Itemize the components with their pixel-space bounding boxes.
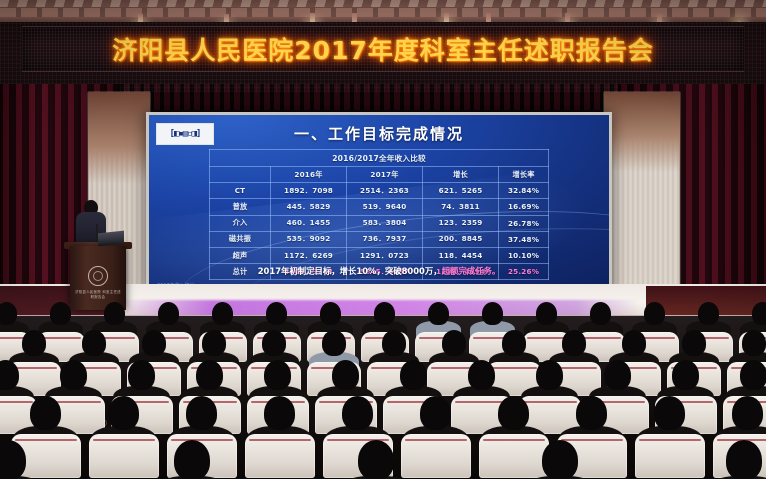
audience-member-head xyxy=(82,330,106,356)
led-banner: 济阳县人民医院2017年度科室主任述职报告会 xyxy=(22,26,744,72)
column-header xyxy=(210,167,271,183)
table-row: CT1892．70982514．2363621．526532.84% xyxy=(210,183,549,199)
row-label: 普放 xyxy=(210,199,271,215)
audience-member-head xyxy=(622,330,646,356)
audience-member-head xyxy=(442,330,466,356)
table-header-row: 2016年2017年增长增长率 xyxy=(210,167,549,183)
row-label: 超声 xyxy=(210,247,271,263)
wall-panel-left-shadow xyxy=(88,92,150,184)
value-growth: 200．8845 xyxy=(423,231,499,247)
value-growth-rate: 37.48% xyxy=(499,231,549,247)
audience-member-head xyxy=(264,396,295,430)
audience-member-head xyxy=(576,396,607,430)
audience-member-head xyxy=(262,330,286,356)
audience-member-head xyxy=(60,360,87,390)
auditorium-seat xyxy=(245,434,315,478)
value-2016: 460．1455 xyxy=(271,215,347,231)
row-label: 磁共振 xyxy=(210,231,271,247)
audience-member-head xyxy=(672,360,699,390)
audience-member-head xyxy=(0,302,17,325)
value-2016: 535．9092 xyxy=(271,231,347,247)
audience-member-head xyxy=(322,330,346,356)
value-growth-rate: 16.69% xyxy=(499,199,549,215)
audience-member-head xyxy=(382,330,406,356)
value-growth: 74．3811 xyxy=(423,199,499,215)
conference-hall-photo: 济阳县人民医院2017年度科室主任述职报告会 [◧▪▤▫◨] 一、工作目标完成情… xyxy=(0,0,766,479)
hospital-seal-icon xyxy=(88,266,108,286)
audience-member-head xyxy=(698,302,719,325)
table-caption-row: 2016/2017全年收入比较 xyxy=(210,150,549,167)
audience-member-head xyxy=(644,302,665,325)
value-2016: 1172．6269 xyxy=(271,247,347,263)
column-header: 2017年 xyxy=(347,167,423,183)
value-2017: 519．9640 xyxy=(347,199,423,215)
audience-member-head xyxy=(428,302,449,325)
table-row: 磁共振535．9092736．7937200．884537.48% xyxy=(210,231,549,247)
audience-member-head xyxy=(358,440,394,479)
audience-member-head xyxy=(108,396,139,430)
table-row: 介入460．1455583．3804123．235926.78% xyxy=(210,215,549,231)
audience-member-head xyxy=(536,360,563,390)
audience-member-head xyxy=(332,360,359,390)
audience-member-head xyxy=(186,396,217,430)
auditorium-seat xyxy=(635,434,705,478)
audience-member-head xyxy=(536,302,557,325)
podium-inscription: 济阳县人民医院 科室主任述职报告会 xyxy=(74,290,122,300)
value-growth-rate: 32.84% xyxy=(499,183,549,199)
audience-member-head xyxy=(482,302,503,325)
projection-screen: [◧▪▤▫◨] 一、工作目标完成情况 2016/2017全年收入比较2016年2… xyxy=(146,112,612,294)
audience-member-head xyxy=(128,360,155,390)
audience-member-head xyxy=(374,302,395,325)
value-growth: 118．4454 xyxy=(423,247,499,263)
audience-member-head xyxy=(30,396,61,430)
slide-footer-highlight: 超额完成任务。 xyxy=(442,266,501,276)
value-2016: 1892．7098 xyxy=(271,183,347,199)
audience-member-head xyxy=(732,396,763,430)
audience-member-head xyxy=(542,440,578,479)
column-header: 增长 xyxy=(423,167,499,183)
audience-member-head xyxy=(22,330,46,356)
audience-member-head xyxy=(654,396,685,430)
audience-member-head xyxy=(174,440,210,479)
audience-member-head xyxy=(604,360,631,390)
value-growth: 621．5265 xyxy=(423,183,499,199)
value-growth-rate: 10.10% xyxy=(499,247,549,263)
row-label: 介入 xyxy=(210,215,271,231)
audience-member-head xyxy=(420,396,451,430)
audience-member-head xyxy=(212,302,233,325)
revenue-table-wrapper: 2016/2017全年收入比较2016年2017年增长增长率CT1892．709… xyxy=(209,149,549,280)
value-growth-rate: 26.78% xyxy=(499,215,549,231)
value-growth: 123．2359 xyxy=(423,215,499,231)
audience-member-head xyxy=(502,330,526,356)
presentation-slide: [◧▪▤▫◨] 一、工作目标完成情况 2016/2017全年收入比较2016年2… xyxy=(149,115,609,291)
audience-member-head xyxy=(742,330,766,356)
column-header: 增长率 xyxy=(499,167,549,183)
audience-member-head xyxy=(104,302,125,325)
slide-title: 一、工作目标完成情况 xyxy=(149,123,609,144)
audience-member-head xyxy=(320,302,341,325)
value-2017: 2514．2363 xyxy=(347,183,423,199)
auditorium-floor: 5-20 5-10 xyxy=(0,316,766,479)
audience-member-head xyxy=(158,302,179,325)
audience-member-head xyxy=(196,360,223,390)
audience-member-head xyxy=(590,302,611,325)
auditorium-seat xyxy=(89,434,159,478)
auditorium-seat xyxy=(479,434,549,478)
ceiling-truss xyxy=(0,8,766,17)
table-row: 普放445．5829519．964074．381116.69% xyxy=(210,199,549,215)
audience-member-head xyxy=(752,302,766,325)
table-row: 超声1172．62691291．0723118．445410.10% xyxy=(210,247,549,263)
banner-title: 济阳县人民医院2017年度科室主任述职报告会 xyxy=(22,27,744,71)
laptop-icon xyxy=(98,231,124,247)
audience-member-head xyxy=(266,302,287,325)
ceiling-truss-upper xyxy=(0,0,766,7)
row-label: CT xyxy=(210,183,271,199)
value-2017: 736．7937 xyxy=(347,231,423,247)
column-header: 2016年 xyxy=(271,167,347,183)
value-2017: 583．3804 xyxy=(347,215,423,231)
audience-member-head xyxy=(562,330,586,356)
slide-footer-main: 2017年初制定目标，增长10%，突破8000万， xyxy=(258,266,442,276)
audience-member-head xyxy=(400,360,427,390)
audience-member-head xyxy=(726,440,762,479)
value-2016: 445．5829 xyxy=(271,199,347,215)
audience-member-head xyxy=(50,302,71,325)
audience-member-head xyxy=(142,330,166,356)
table-caption: 2016/2017全年收入比较 xyxy=(210,150,549,167)
value-2017: 1291．0723 xyxy=(347,247,423,263)
revenue-comparison-table: 2016/2017全年收入比较2016年2017年增长增长率CT1892．709… xyxy=(209,149,549,280)
audience-member-head xyxy=(202,330,226,356)
wall-panel-right-shadow xyxy=(604,92,680,172)
slide-footer-note: 2017年初制定目标，增长10%，突破8000万，超额完成任务。 xyxy=(171,265,587,277)
auditorium-seat xyxy=(401,434,471,478)
audience-member-head xyxy=(498,396,529,430)
audience-member-head xyxy=(468,360,495,390)
audience-member-head xyxy=(264,360,291,390)
audience-member-head xyxy=(682,330,706,356)
audience-member-head xyxy=(740,360,766,390)
audience-member-head xyxy=(342,396,373,430)
